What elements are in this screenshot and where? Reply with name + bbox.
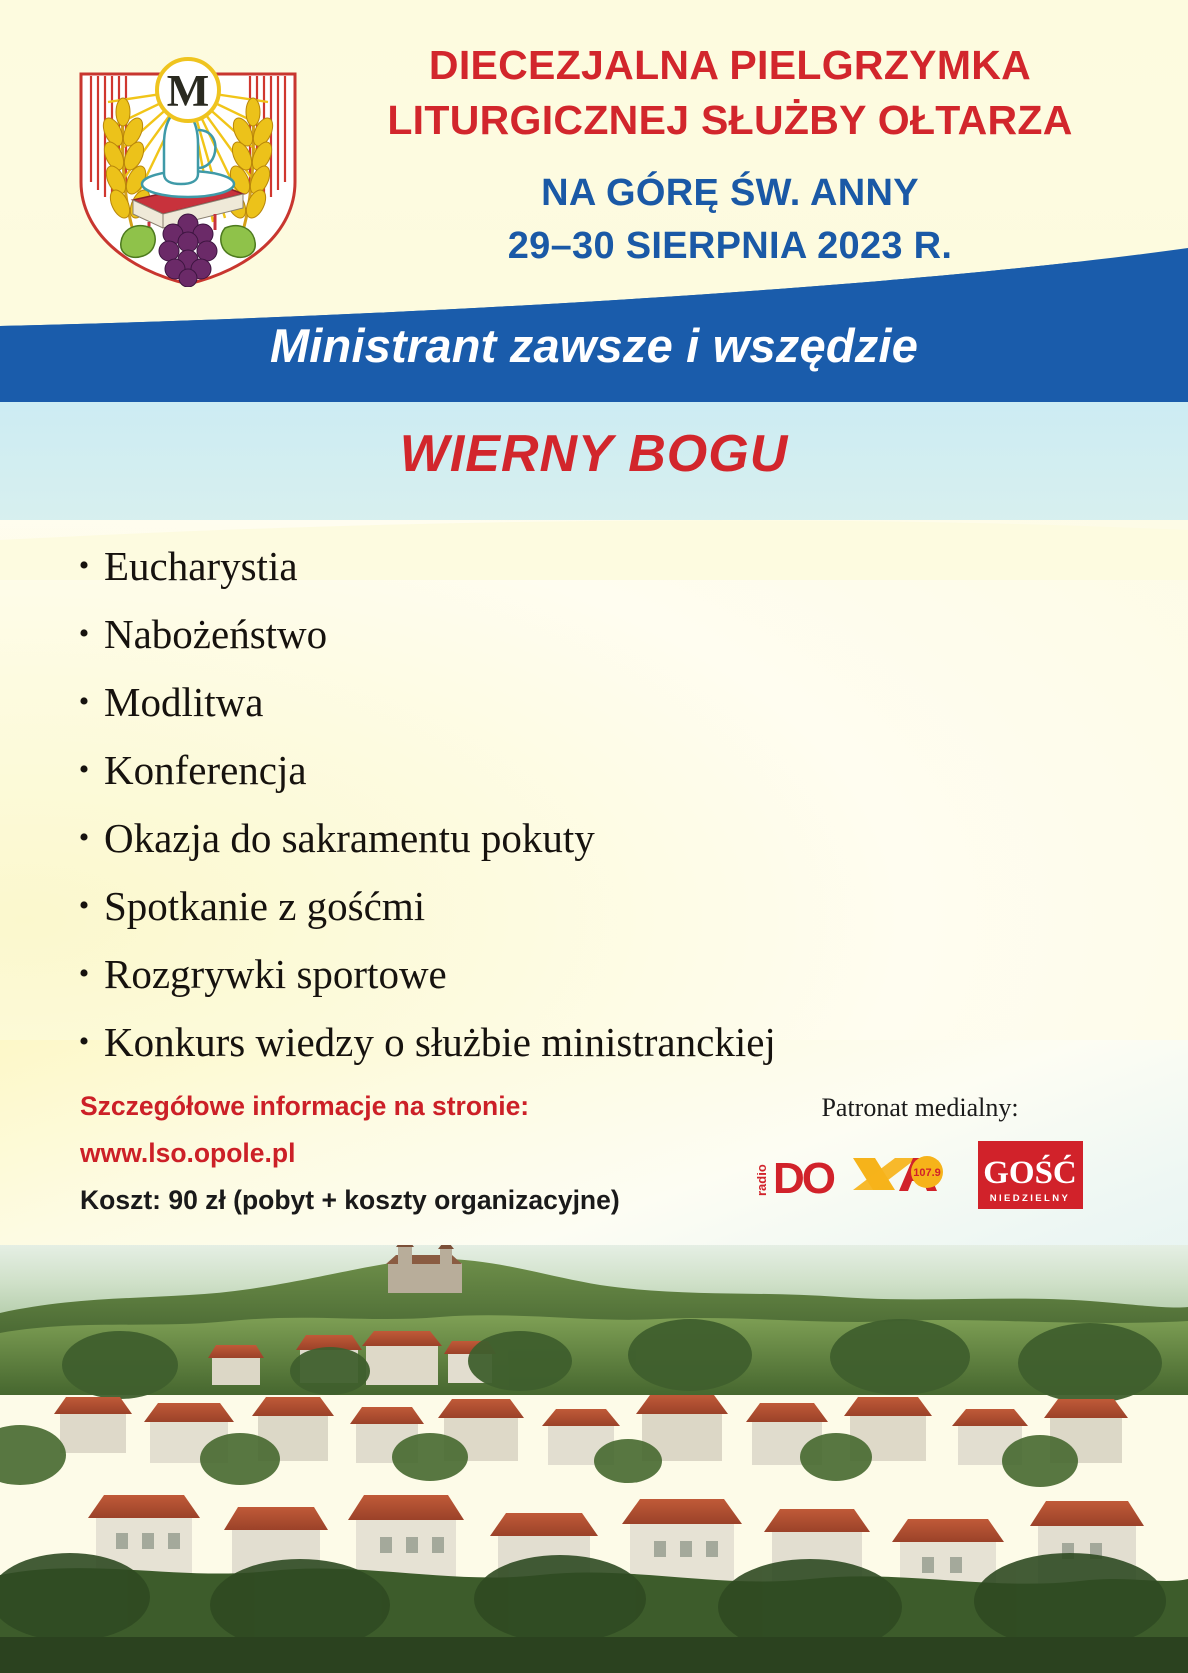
list-item: • Modlitwa xyxy=(64,672,1124,733)
gosc-title-text: GOŚĆ xyxy=(983,1153,1077,1191)
list-item: • Konkurs wiedzy o służbie ministranckie… xyxy=(64,1012,1124,1073)
list-item: • Eucharystia xyxy=(64,536,1124,597)
list-item-label: Okazja do sakramentu pokuty xyxy=(104,818,595,859)
list-item-label: Rozgrywki sportowe xyxy=(104,954,447,995)
patronage-logos: radio DO 107.9 GOŚĆ N xyxy=(740,1141,1100,1209)
list-item: • Nabożeństwo xyxy=(64,604,1124,665)
poster-header: DIECEZJALNA PIELGRZYMKA LITURGICZNEJ SŁU… xyxy=(330,38,1130,273)
program-list: • Eucharystia • Nabożeństwo • Modlitwa •… xyxy=(64,536,1124,1080)
bullet-icon: • xyxy=(64,687,104,717)
header-line-4: 29–30 SIERPNIA 2023 R. xyxy=(330,220,1130,273)
list-item-label: Nabożeństwo xyxy=(104,614,327,655)
header-line-1: DIECEZJALNA PIELGRZYMKA xyxy=(330,38,1130,93)
doxa-frequency-text: 107.9 xyxy=(913,1167,941,1179)
bullet-icon: • xyxy=(64,891,104,921)
patronage-label: Patronat medialny: xyxy=(740,1093,1100,1123)
info-block: Szczegółowe informacje na stronie: www.l… xyxy=(80,1093,720,1214)
cost-label: Koszt: 90 zł (pobyt + koszty organizacyj… xyxy=(80,1187,720,1214)
doxa-do-text: DO xyxy=(773,1154,835,1203)
banner-motto-text: Ministrant zawsze i wszędzie xyxy=(0,318,1188,373)
bullet-icon: • xyxy=(64,551,104,581)
bullet-icon: • xyxy=(64,959,104,989)
list-item-label: Spotkanie z gośćmi xyxy=(104,886,425,927)
list-item-label: Konkurs wiedzy o służbie ministranckiej xyxy=(104,1022,776,1063)
gosc-subtitle-text: NIEDZIELNY xyxy=(990,1193,1070,1204)
patronage-block: Patronat medialny: radio DO 107.9 xyxy=(740,1093,1100,1209)
bullet-icon: • xyxy=(64,619,104,649)
website-link[interactable]: www.lso.opole.pl xyxy=(80,1140,720,1167)
info-details-label: Szczegółowe informacje na stronie: xyxy=(80,1093,720,1120)
list-item-label: Modlitwa xyxy=(104,682,263,723)
coat-of-arms-emblem: M xyxy=(63,32,313,287)
header-line-3: NA GÓRĘ ŚW. ANNY xyxy=(330,167,1130,220)
header-line-2: LITURGICZNEJ SŁUŻBY OŁTARZA xyxy=(330,93,1130,148)
bullet-icon: • xyxy=(64,755,104,785)
gosc-niedzielny-logo: GOŚĆ NIEDZIELNY xyxy=(978,1141,1083,1209)
list-item: • Okazja do sakramentu pokuty xyxy=(64,808,1124,869)
bullet-icon: • xyxy=(64,1027,104,1057)
bullet-icon: • xyxy=(64,823,104,853)
list-item: • Rozgrywki sportowe xyxy=(64,944,1124,1005)
emblem-letter: M xyxy=(167,66,209,116)
poster-root: Ministrant zawsze i wszędzie xyxy=(0,0,1188,1673)
list-item-label: Eucharystia xyxy=(104,546,298,587)
list-item: • Spotkanie z gośćmi xyxy=(64,876,1124,937)
list-item: • Konferencja xyxy=(64,740,1124,801)
doxa-radio-text: radio xyxy=(757,1164,769,1196)
poster-subtitle: WIERNY BOGU xyxy=(0,424,1188,484)
radio-doxa-logo: radio DO 107.9 xyxy=(757,1146,952,1204)
list-item-label: Konferencja xyxy=(104,750,307,791)
gora-sw-anny-photo xyxy=(0,1245,1188,1673)
